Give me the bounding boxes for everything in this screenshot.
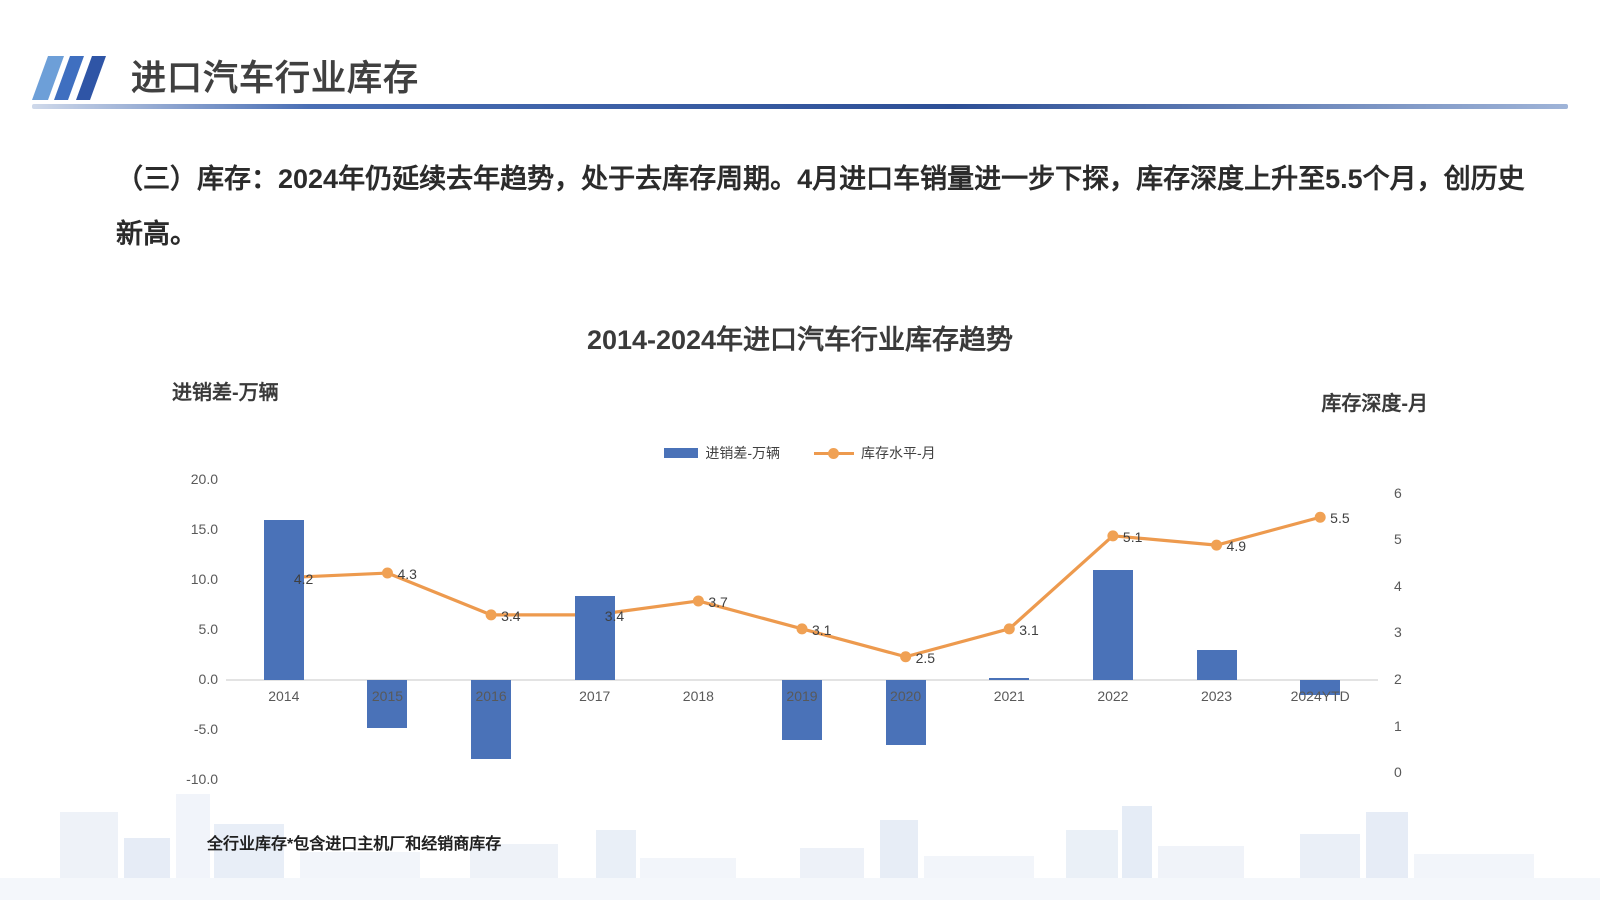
body-paragraph: （三）库存：2024年仍延续去年趋势，处于去库存周期。4月进口车销量进一步下探，… (116, 152, 1536, 262)
y-axis-tick-left: 20.0 (191, 471, 218, 487)
line-marker[interactable] (1315, 512, 1326, 523)
line-marker[interactable] (486, 609, 497, 620)
y-axis-tick-left: 10.0 (191, 571, 218, 587)
y-axis-tick-left: 0.0 (199, 671, 218, 687)
x-axis-tick-label: 2024YTD (1291, 688, 1350, 704)
line-marker[interactable] (382, 568, 393, 579)
chart-legend: 进销差-万辆 库存水平-月 (0, 443, 1600, 463)
legend-label-line: 库存水平-月 (861, 443, 936, 463)
x-axis-tick-label: 2014 (268, 688, 299, 704)
line-series-path (284, 517, 1320, 657)
x-axis-tick-label: 2022 (1097, 688, 1128, 704)
line-marker[interactable] (1004, 623, 1015, 634)
line-marker[interactable] (1211, 540, 1222, 551)
legend-label-bar: 进销差-万辆 (705, 443, 780, 463)
data-point-label: 4.3 (397, 566, 416, 582)
line-marker[interactable] (900, 651, 911, 662)
page-title: 进口汽车行业库存 (131, 50, 419, 101)
data-point-label: 3.4 (605, 608, 624, 624)
chart-bar[interactable] (989, 678, 1029, 680)
y-axis-tick-right: 2 (1394, 671, 1402, 687)
y-axis-tick-right: 5 (1394, 531, 1402, 547)
line-marker[interactable] (1107, 530, 1118, 541)
data-point-label: 3.4 (501, 608, 520, 624)
x-axis-tick-label: 2023 (1201, 688, 1232, 704)
legend-bar-swatch-icon (664, 448, 698, 458)
legend-line-swatch-icon (814, 447, 854, 459)
y-axis-tick-right: 4 (1394, 578, 1402, 594)
right-axis-title: 库存深度-月 (1321, 387, 1428, 416)
x-axis-tick-label: 2016 (476, 688, 507, 704)
data-point-label: 5.1 (1123, 529, 1142, 545)
y-axis-tick-right: 1 (1394, 718, 1402, 734)
y-axis-tick-right: 6 (1394, 485, 1402, 501)
x-axis-tick-label: 2020 (890, 688, 921, 704)
chart-footnote: 全行业库存*包含进口主机厂和经销商库存 (207, 830, 501, 854)
chart-title: 2014-2024年进口汽车行业库存趋势 (0, 318, 1600, 357)
line-marker[interactable] (797, 623, 808, 634)
data-point-label: 3.1 (812, 622, 831, 638)
x-axis-tick-label: 2019 (786, 688, 817, 704)
data-point-label: 2.5 (916, 650, 935, 666)
data-point-label: 4.2 (294, 571, 313, 587)
chart-bar[interactable] (264, 520, 304, 680)
data-point-label: 3.1 (1019, 622, 1038, 638)
x-axis-tick-label: 2021 (994, 688, 1025, 704)
chart-bar[interactable] (1093, 570, 1133, 680)
slide-root: 进口汽车行业库存 （三）库存：2024年仍延续去年趋势，处于去库存周期。4月进口… (0, 0, 1600, 900)
x-axis-tick-label: 2017 (579, 688, 610, 704)
data-point-label: 3.7 (708, 594, 727, 610)
chart-plot-area: 20.015.010.05.00.0-5.0-10.065432104.24.3… (232, 480, 1372, 780)
line-marker[interactable] (693, 595, 704, 606)
legend-item-bar[interactable]: 进销差-万辆 (664, 443, 780, 463)
y-axis-tick-right: 3 (1394, 624, 1402, 640)
slanted-bars-logo (32, 56, 110, 100)
y-axis-tick-left: 5.0 (199, 621, 218, 637)
x-axis-tick-label: 2018 (683, 688, 714, 704)
y-axis-tick-left: -10.0 (186, 771, 218, 787)
header-divider (32, 104, 1568, 109)
y-axis-tick-left: -5.0 (194, 721, 218, 737)
data-point-label: 5.5 (1330, 510, 1349, 526)
y-axis-tick-left: 15.0 (191, 521, 218, 537)
data-point-label: 4.9 (1227, 538, 1246, 554)
left-axis-title: 进销差-万辆 (172, 376, 279, 405)
x-axis-tick-label: 2015 (372, 688, 403, 704)
y-axis-tick-right: 0 (1394, 764, 1402, 780)
chart-bar[interactable] (1197, 650, 1237, 680)
legend-item-line[interactable]: 库存水平-月 (814, 443, 936, 463)
